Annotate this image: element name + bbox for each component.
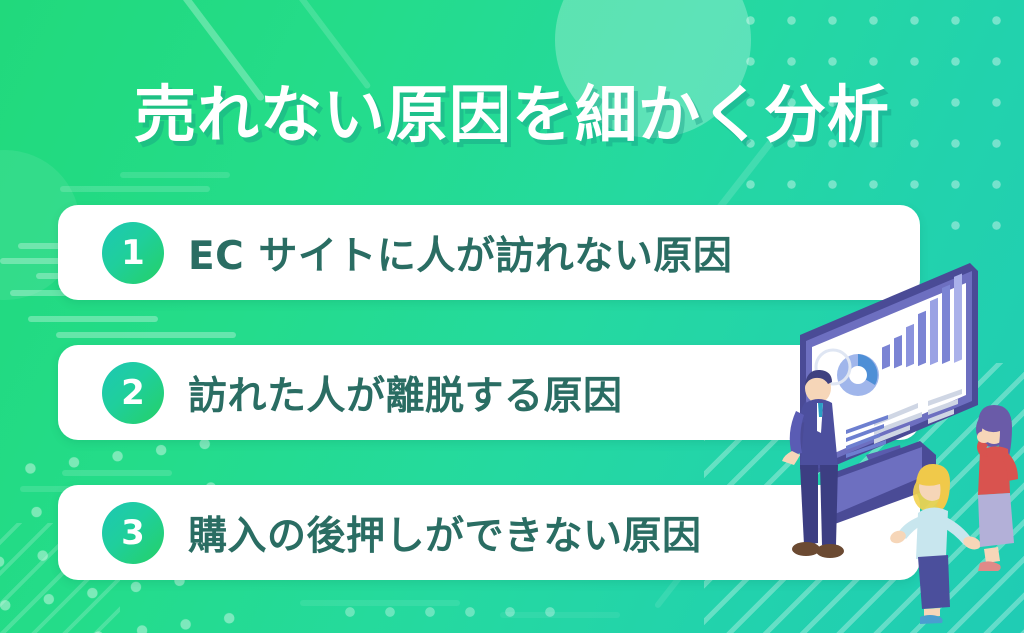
diagonal-line-2 [294, 0, 371, 90]
list-item-label: 訪れた人が離脱する原因 [188, 365, 623, 421]
woman-purple-hair [976, 405, 1018, 571]
speed-line [120, 172, 230, 178]
business-presentation-illustration [770, 225, 1024, 625]
slide-canvas: 売れない原因を細かく分析 1 EC サイトに人が訪れない原因 2 訪れた人が離脱… [0, 0, 1024, 633]
speed-line [0, 258, 64, 264]
list-item-number-badge: 2 [102, 362, 164, 424]
list-item-label: 購入の後押しができない原因 [188, 505, 702, 561]
list-item-number-badge: 1 [102, 222, 164, 284]
list-item-number-badge: 3 [102, 502, 164, 564]
page-title: 売れない原因を細かく分析 [0, 84, 1024, 146]
speed-line [60, 186, 210, 192]
list-item-label: EC サイトに人が訪れない原因 [188, 225, 732, 281]
